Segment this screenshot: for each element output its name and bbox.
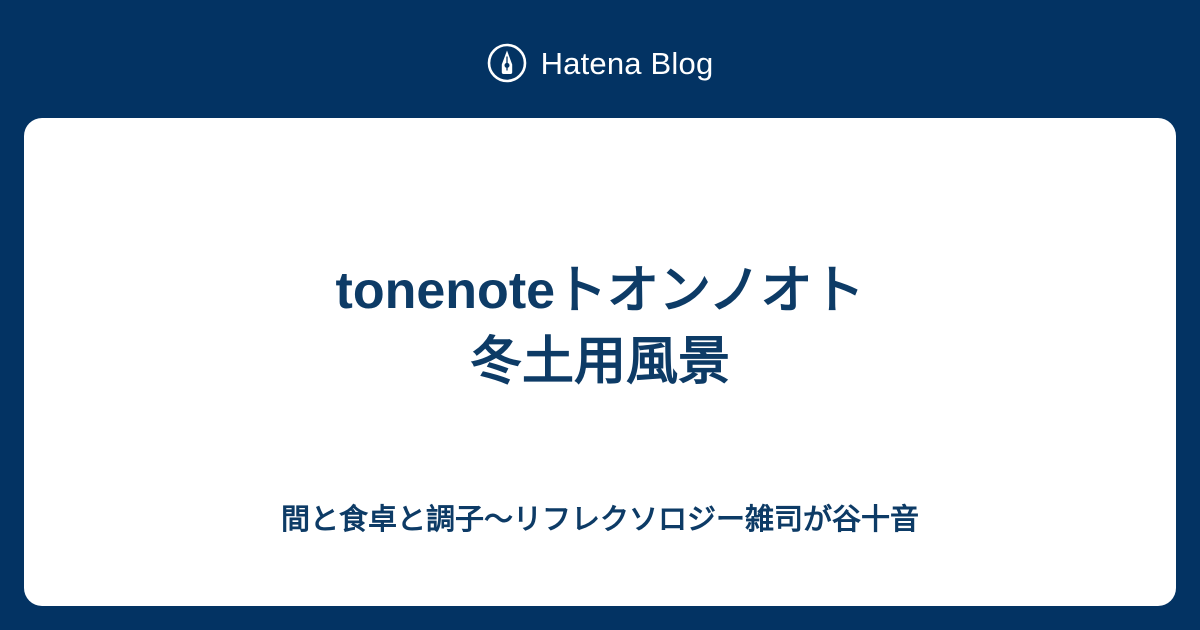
blog-title: 間と食卓と調子〜リフレクソロジー雑司が谷十音 <box>24 502 1176 540</box>
entry-title: tonenoteトオンノオト 冬土用風景 <box>24 256 1176 397</box>
entry-title-line-2: 冬土用風景 <box>84 327 1116 398</box>
entry-title-line-1: tonenoteトオンノオト <box>84 256 1116 327</box>
pen-nib-circle-icon <box>487 43 527 83</box>
brand-name-label: Hatena Blog <box>541 48 714 79</box>
entry-card-inner: tonenoteトオンノオト 冬土用風景 間と食卓と調子〜リフレクソロジー雑司が… <box>24 118 1176 606</box>
entry-card: tonenoteトオンノオト 冬土用風景 間と食卓と調子〜リフレクソロジー雑司が… <box>24 118 1176 606</box>
ogp-card-canvas: Hatena Blog tonenoteトオンノオト 冬土用風景 間と食卓と調子… <box>0 0 1200 630</box>
hatena-blog-brand[interactable]: Hatena Blog <box>0 38 1200 88</box>
